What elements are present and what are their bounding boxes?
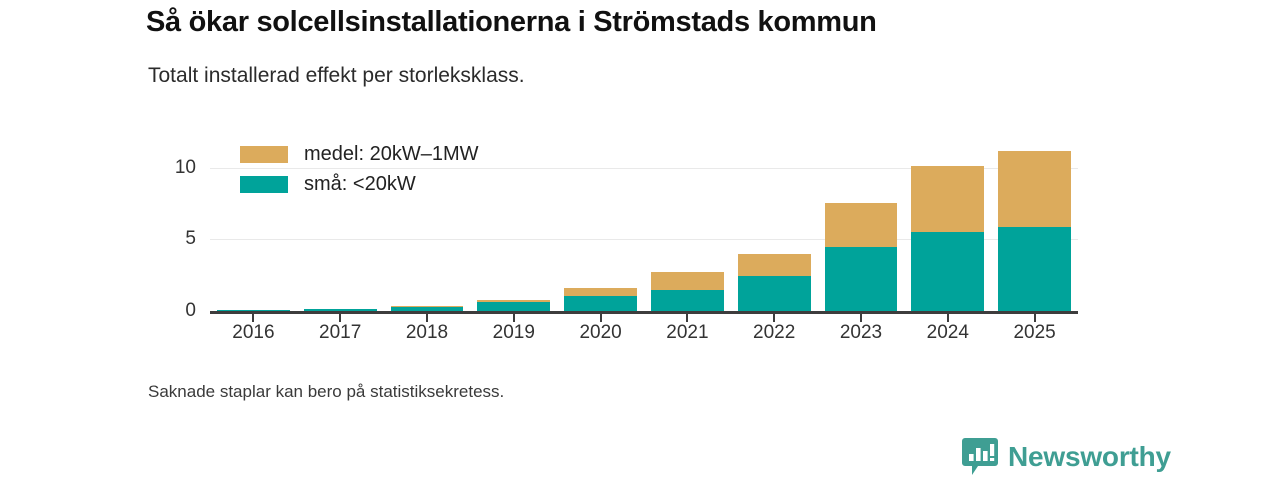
bar-stack[interactable] [738, 254, 811, 311]
x-axis-tick-mark [252, 311, 254, 322]
bar-stack[interactable] [998, 151, 1071, 311]
x-axis-tick-label: 2019 [474, 322, 554, 344]
bar-stack[interactable] [825, 203, 898, 311]
solar-installation-chart: Så ökar solcellsinstallationerna i Ström… [0, 0, 1280, 480]
bar-segment-small[interactable] [825, 247, 898, 311]
x-axis-tick-mark [426, 311, 428, 322]
y-axis-tick-label: 0 [156, 301, 196, 320]
legend-label-medium: medel: 20kW–1MW [304, 143, 479, 166]
chart-title: Så ökar solcellsinstallationerna i Ström… [146, 6, 1146, 39]
x-axis-tick-label: 2024 [908, 322, 988, 344]
x-axis-tick-label: 2018 [387, 322, 467, 344]
bar-segment-medium[interactable] [651, 272, 724, 289]
chart-footnote: Saknade staplar kan bero på statistiksek… [148, 382, 504, 402]
x-axis-tick-mark [773, 311, 775, 322]
y-axis-tick-label: 10 [156, 158, 196, 177]
bar-segment-small[interactable] [651, 290, 724, 311]
legend-swatch-medium [240, 146, 288, 163]
newsworthy-logo[interactable]: Newsworthy [962, 438, 1171, 476]
x-axis-tick-mark [947, 311, 949, 322]
legend-label-small: små: <20kW [304, 173, 416, 196]
bar-segment-small[interactable] [564, 296, 637, 311]
bar-segment-medium[interactable] [738, 254, 811, 276]
x-axis-tick-mark [600, 311, 602, 322]
bar-segment-medium[interactable] [391, 306, 464, 307]
bar-stack[interactable] [651, 272, 724, 311]
x-axis-tick-label: 2017 [300, 322, 380, 344]
legend-swatch-small [240, 176, 288, 193]
x-axis-tick-mark [339, 311, 341, 322]
legend-item-medium[interactable]: medel: 20kW–1MW [240, 139, 479, 169]
bar-segment-small[interactable] [998, 227, 1071, 311]
bar-segment-small[interactable] [477, 302, 550, 311]
x-axis-tick-label: 2025 [995, 322, 1075, 344]
bar-stack[interactable] [477, 300, 550, 311]
legend-item-small[interactable]: små: <20kW [240, 169, 479, 199]
bar-stack[interactable] [564, 288, 637, 311]
x-axis-tick-mark [686, 311, 688, 322]
x-axis-tick-mark [860, 311, 862, 322]
bar-segment-medium[interactable] [564, 288, 637, 296]
newsworthy-wordmark: Newsworthy [1008, 441, 1171, 473]
bar-stack[interactable] [911, 166, 984, 311]
bar-segment-medium[interactable] [477, 300, 550, 302]
bar-segment-small[interactable] [738, 276, 811, 311]
x-axis-tick-label: 2020 [561, 322, 641, 344]
x-axis-tick-mark [1034, 311, 1036, 322]
chart-subtitle: Totalt installerad effekt per storlekskl… [148, 64, 1048, 88]
chart-legend: medel: 20kW–1MW små: <20kW [240, 139, 479, 199]
bar-segment-medium[interactable] [911, 166, 984, 232]
x-axis-tick-mark [513, 311, 515, 322]
y-axis-tick-label: 5 [156, 229, 196, 248]
x-axis-tick-label: 2016 [213, 322, 293, 344]
x-axis-tick-label: 2023 [821, 322, 901, 344]
bar-chart-speech-bubble-icon [962, 438, 998, 476]
bar-segment-small[interactable] [911, 232, 984, 311]
x-axis-tick-label: 2021 [647, 322, 727, 344]
bar-segment-medium[interactable] [998, 151, 1071, 226]
x-axis-tick-label: 2022 [734, 322, 814, 344]
bar-segment-medium[interactable] [825, 203, 898, 247]
